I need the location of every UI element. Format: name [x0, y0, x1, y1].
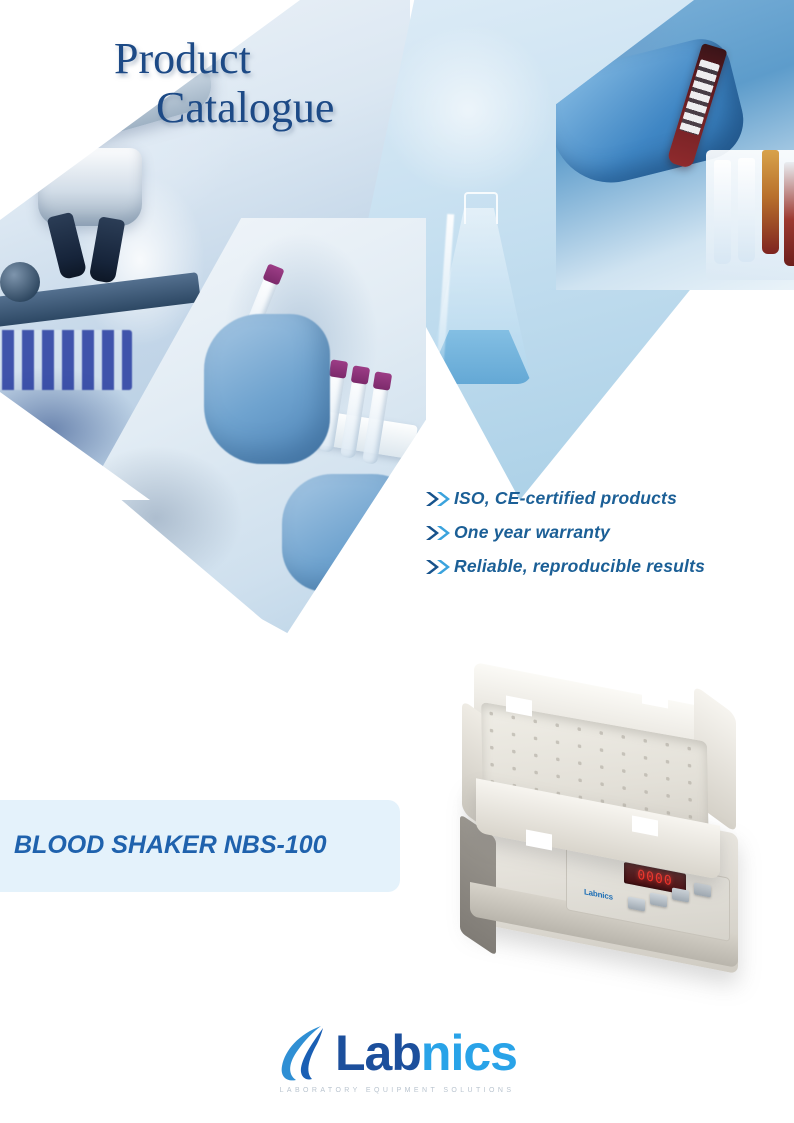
- microscope-objective-icon: [89, 216, 126, 284]
- feature-list: ISO, CE-certified products One year warr…: [424, 488, 774, 590]
- double-chevron-icon: [424, 557, 454, 577]
- list-item: One year warranty: [424, 522, 774, 543]
- double-chevron-icon: [424, 523, 454, 543]
- test-tube-shape: [714, 160, 731, 264]
- logo-wordmark: Labnics: [335, 1028, 517, 1078]
- labnics-swoosh-icon: [277, 1022, 333, 1084]
- tube-cap: [329, 359, 348, 378]
- list-item: ISO, CE-certified products: [424, 488, 774, 509]
- gloved-hand-shape: [282, 474, 432, 592]
- microscope-focus-knob: [0, 262, 40, 302]
- test-tube-shape: [762, 150, 779, 254]
- led-digits: 0000: [637, 868, 672, 890]
- product-name: BLOOD SHAKER NBS-100: [0, 831, 337, 861]
- vial-rack-shape: [0, 330, 132, 390]
- shaker-tray: [446, 684, 746, 860]
- gloved-hand-shape: [204, 314, 330, 464]
- feature-label: One year warranty: [454, 522, 610, 543]
- title-line-2: Catalogue: [100, 83, 430, 132]
- list-item: Reliable, reproducible results: [424, 556, 774, 577]
- tube-cap: [351, 365, 370, 384]
- product-photo: Labnics 0000: [438, 676, 768, 986]
- double-chevron-icon: [424, 489, 454, 509]
- feature-label: Reliable, reproducible results: [454, 556, 705, 577]
- logo-tagline: LABORATORY EQUIPMENT SOLUTIONS: [280, 1087, 515, 1094]
- tube-cap: [262, 263, 284, 285]
- tube-cap: [373, 371, 392, 390]
- logo-word-lab: Lab: [335, 1025, 421, 1081]
- product-name-panel: BLOOD SHAKER NBS-100: [0, 800, 400, 892]
- logo-word-nics: nics: [421, 1025, 517, 1081]
- page-title: Product Catalogue: [100, 34, 430, 133]
- logo-row: Labnics: [277, 1022, 517, 1084]
- title-line-1: Product: [100, 34, 430, 83]
- test-tube-shape: [738, 158, 755, 262]
- feature-label: ISO, CE-certified products: [454, 488, 677, 509]
- brand-logo: Labnics LABORATORY EQUIPMENT SOLUTIONS: [0, 1022, 794, 1094]
- test-tube-shape: [784, 162, 794, 266]
